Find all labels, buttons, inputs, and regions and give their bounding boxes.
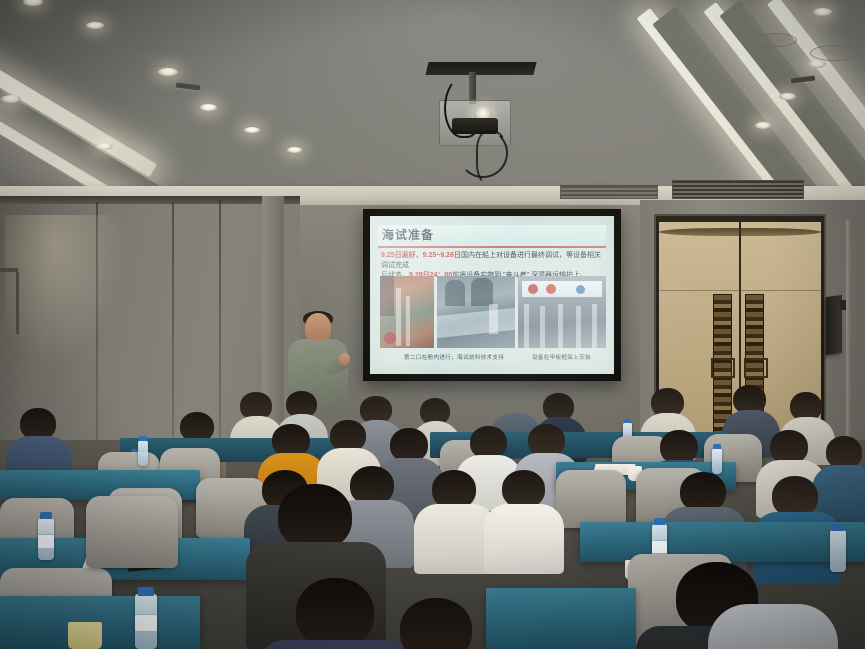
partition-seam (219, 200, 221, 466)
audience-torso (260, 640, 412, 649)
bottle-label (38, 534, 54, 549)
door-greek-key-motif (744, 358, 768, 378)
recessed-downlight (95, 143, 113, 150)
audience-head (296, 578, 374, 648)
recessed-downlight (200, 104, 217, 111)
recessed-downlight (287, 147, 302, 153)
audience-table-row-4 (486, 588, 636, 649)
projector-cable (476, 130, 510, 186)
audience-head (772, 476, 818, 517)
audience-head (680, 472, 726, 512)
ceiling-air-vent (810, 45, 858, 61)
partition-seam (172, 202, 174, 466)
bottle-cap (832, 524, 844, 531)
bottle-cap (139, 436, 147, 441)
projector-mount-plate (425, 62, 536, 75)
bottle-cap (654, 518, 665, 525)
audience-head (502, 470, 545, 508)
bottle-cap (138, 587, 154, 596)
bottle-label (135, 614, 157, 632)
water-bottle (830, 530, 846, 572)
partition-track (0, 196, 300, 204)
recessed-downlight (808, 60, 826, 68)
projection-screen: 海试准备 9.25日返好，9.25~9.26日国内在船上对设备进行最终调试，等设… (370, 216, 614, 374)
screen-glare (370, 216, 614, 374)
bottle-cap (40, 512, 52, 519)
paper-cup (68, 622, 102, 649)
audience-head (390, 428, 428, 462)
ceiling-air-vent (755, 33, 797, 47)
audience-torso (484, 504, 564, 574)
wall-recess-slot (16, 272, 19, 334)
door-panel-line (659, 290, 821, 291)
recessed-downlight (244, 127, 260, 133)
bottle-cap (713, 444, 721, 449)
audience-head (660, 430, 698, 464)
wall-light-wash (5, 215, 125, 365)
audience-chair (556, 470, 626, 528)
bottle-cap (624, 419, 631, 423)
water-bottle (138, 440, 148, 466)
recessed-downlight (779, 93, 796, 100)
recessed-downlight (1, 95, 21, 103)
audience-head (278, 484, 352, 550)
audience-chair (86, 496, 178, 568)
recessed-downlight (755, 122, 771, 129)
water-bottle (712, 448, 722, 474)
presenter-hand (339, 353, 350, 365)
wall-trim-edge (846, 220, 852, 465)
audience-head (400, 598, 472, 649)
recessed-downlight (813, 8, 832, 16)
bottle-label (652, 540, 667, 554)
wall-air-return-grille (560, 185, 658, 199)
door-greek-key-motif (711, 358, 735, 378)
conference-room-photo: 海试准备 9.25日返好，9.25~9.26日国内在船上对设备进行最终调试，等设… (0, 0, 865, 649)
wall-air-return-grille (672, 180, 804, 199)
audience-torso (708, 604, 838, 649)
recessed-downlight (86, 22, 104, 29)
recessed-downlight (158, 68, 178, 76)
audience-head (770, 430, 808, 464)
ceiling-air-vent (130, 52, 172, 67)
